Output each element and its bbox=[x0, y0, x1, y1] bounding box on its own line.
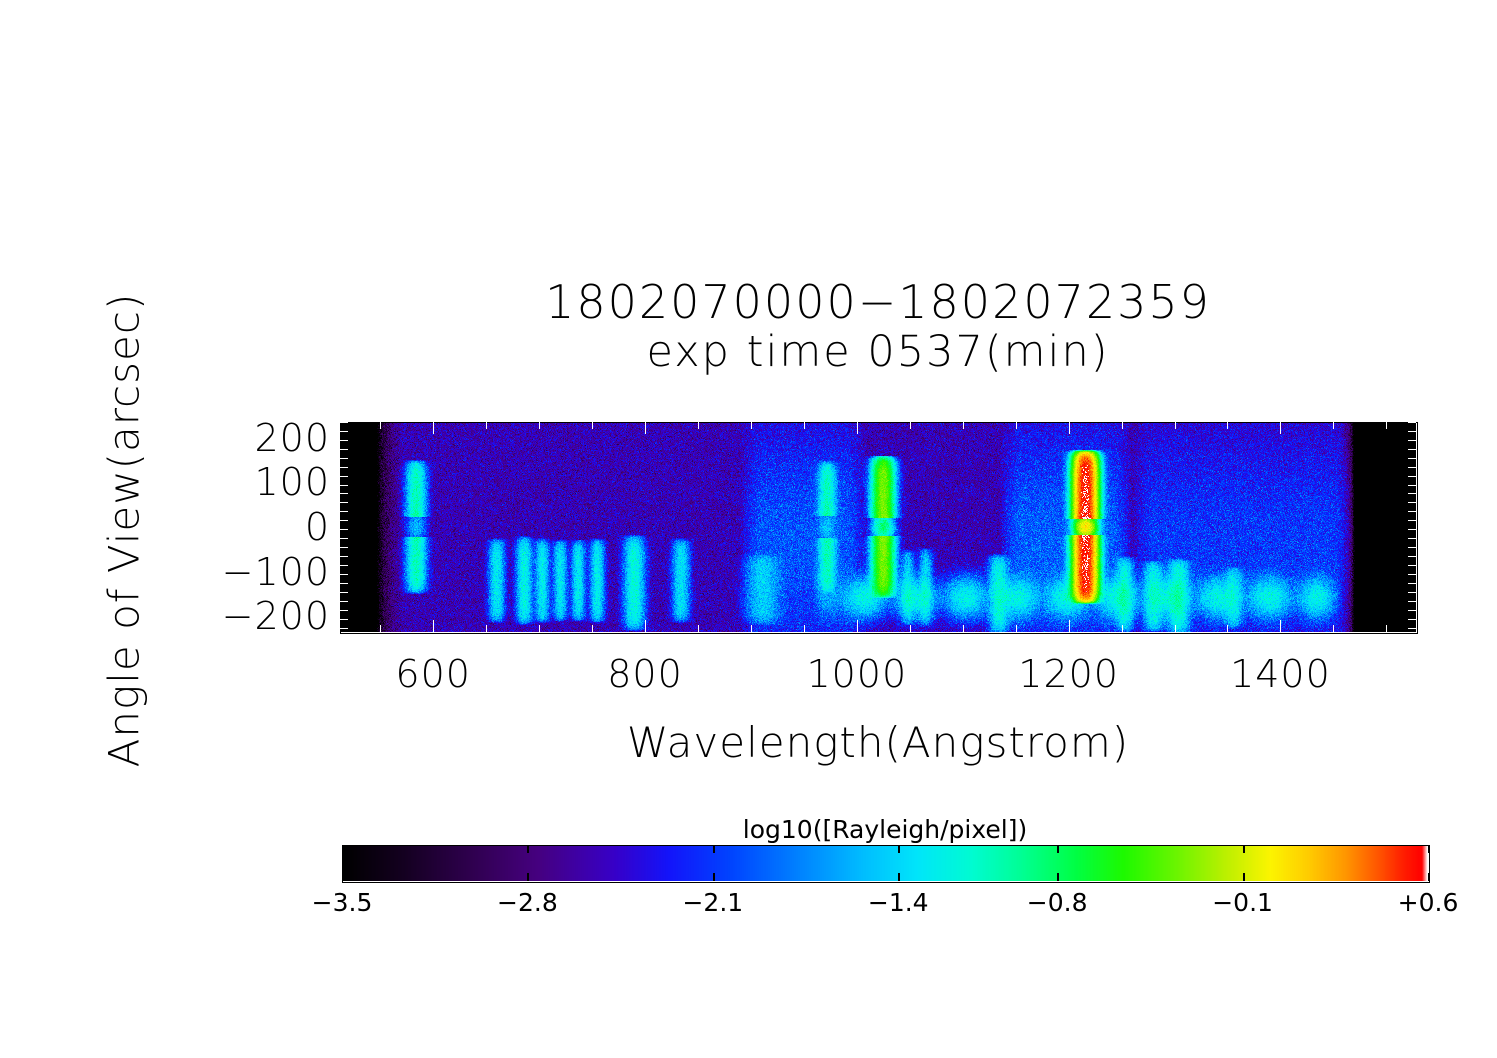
colorbar-tick bbox=[1428, 873, 1430, 881]
spectrogram-image bbox=[340, 422, 1416, 632]
colorbar-tick-label: −0.1 bbox=[1212, 890, 1273, 915]
colorbar-tick-label: −2.1 bbox=[682, 890, 743, 915]
colorbar-tick bbox=[1428, 845, 1430, 853]
colorbar-tick-label: −0.8 bbox=[1027, 890, 1088, 915]
x-tick-label: 1000 bbox=[806, 655, 907, 693]
y-axis-title-text: Angle of View(arcsec) bbox=[100, 293, 149, 768]
y-axis-title: Angle of View(arcsec) bbox=[96, 274, 152, 786]
x-tick-label: 1200 bbox=[1018, 655, 1119, 693]
x-tick-label: 600 bbox=[395, 655, 471, 693]
colorbar-image bbox=[342, 845, 1428, 881]
colorbar-title: log10([Rayleigh/pixel]) bbox=[340, 815, 1430, 844]
x-axis-title: Wavelength(Angstrom) bbox=[340, 718, 1416, 767]
title-line-observation-id: 1802070000−1802072359 bbox=[340, 279, 1416, 325]
plot-title: 1802070000−1802072359 exp time 0537(min) bbox=[340, 279, 1416, 374]
y-tick-label: 0 bbox=[305, 508, 330, 546]
colorbar-tick-label: −2.8 bbox=[497, 890, 558, 915]
y-tick-label: 100 bbox=[254, 463, 330, 501]
colorbar-tick-label: −3.5 bbox=[312, 890, 373, 915]
spectrogram-plot-area bbox=[340, 422, 1416, 632]
y-tick-label: −100 bbox=[222, 553, 330, 591]
y-tick-label: −200 bbox=[222, 597, 330, 635]
colorbar-tick-label: −1.4 bbox=[868, 890, 929, 915]
title-line-exposure-time: exp time 0537(min) bbox=[340, 331, 1416, 374]
x-tick-label: 1400 bbox=[1230, 655, 1331, 693]
y-tick-label: 200 bbox=[254, 419, 330, 457]
colorbar-tick-label: +0.6 bbox=[1398, 890, 1459, 915]
figure-canvas: 1802070000−1802072359 exp time 0537(min)… bbox=[0, 0, 1497, 1058]
colorbar-gradient bbox=[342, 845, 1428, 881]
x-tick-label: 800 bbox=[607, 655, 683, 693]
